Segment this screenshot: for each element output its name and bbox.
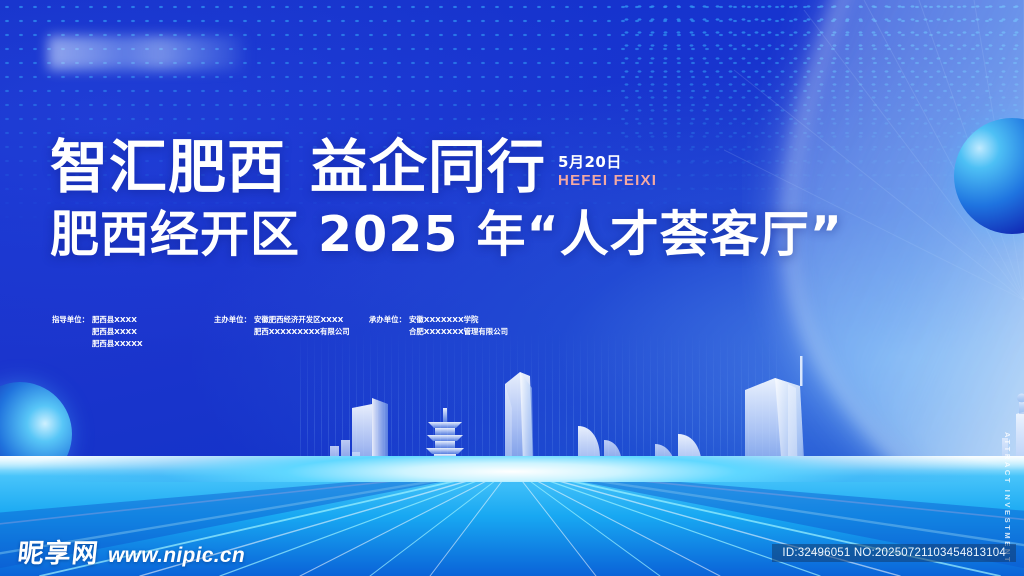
main-title-part-1: 智汇肥西 — [50, 133, 286, 201]
organizer-name: 肥西县XXXX — [92, 326, 143, 338]
organizer-list: 指导单位： 肥西县XXXX 肥西县XXXX 肥西县XXXXX 主办单位： 安徽肥… — [52, 314, 529, 350]
organizer-name: 安徽肥西经济开发区XXXX — [254, 314, 350, 326]
organizer-label: 承办单位： — [369, 314, 406, 350]
organizer-name: 肥西XXXXXXXXX有限公司 — [254, 326, 350, 338]
event-date-cn: 5月20日 — [558, 155, 657, 171]
main-title-part-2: 益企同行 — [310, 133, 546, 201]
headline-row-1: 智汇肥西益企同行 5月20日 HEFEI FEIXI — [50, 138, 843, 196]
main-title: 智汇肥西益企同行 — [50, 138, 546, 196]
horizon-glow — [0, 456, 1024, 482]
image-id-tag: ID:32496051 NO:20250721103454813104 — [772, 544, 1016, 562]
organizer-names: 肥西县XXXX 肥西县XXXX 肥西县XXXXX — [92, 314, 143, 350]
organizer-label: 指导单位： — [52, 314, 89, 350]
event-location-en: HEFEI FEIXI — [558, 173, 657, 189]
headline-block: 智汇肥西益企同行 5月20日 HEFEI FEIXI 肥西经开区 2025 年“… — [50, 138, 843, 259]
organization-logo — [48, 36, 248, 70]
organizer-name: 安徽XXXXXXX学院 — [409, 314, 508, 326]
event-date-block: 5月20日 HEFEI FEIXI — [558, 155, 657, 197]
organizer-names: 安徽肥西经济开发区XXXX 肥西XXXXXXXXX有限公司 — [254, 314, 350, 350]
organizer-name: 肥西县XXXX — [92, 314, 143, 326]
organizer-label: 主办单位： — [214, 314, 251, 350]
organizer-name: 肥西县XXXXX — [92, 338, 143, 350]
organizer-group-host: 主办单位： 安徽肥西经济开发区XXXX 肥西XXXXXXXXX有限公司 — [214, 314, 369, 350]
organizer-group-undertaker: 承办单位： 安徽XXXXXXX学院 合肥XXXXXXX管理有限公司 — [369, 314, 529, 350]
poster-canvas: 智汇肥西益企同行 5月20日 HEFEI FEIXI 肥西经开区 2025 年“… — [0, 0, 1024, 576]
organizer-group-guidance: 指导单位： 肥西县XXXX 肥西县XXXX 肥西县XXXXX — [52, 314, 214, 350]
organizer-names: 安徽XXXXXXX学院 合肥XXXXXXX管理有限公司 — [409, 314, 508, 350]
sub-title: 肥西经开区 2025 年“人才荟客厅” — [50, 210, 843, 259]
organizer-name: 合肥XXXXXXX管理有限公司 — [409, 326, 508, 338]
